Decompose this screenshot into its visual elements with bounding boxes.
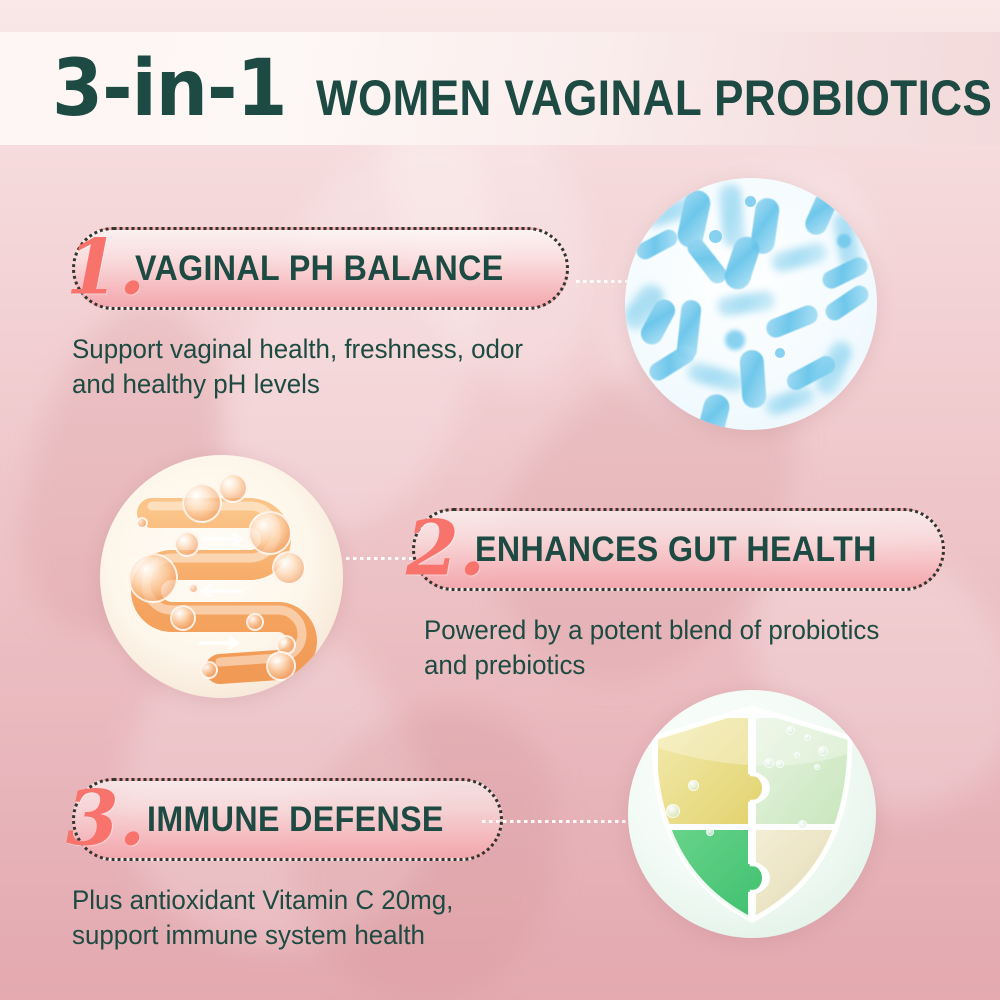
feature-1-body: Support vaginal health, freshness, odor … — [72, 332, 549, 401]
gut-bubble — [200, 661, 218, 679]
gut-bubble — [248, 511, 292, 555]
connector-line-3 — [482, 820, 632, 823]
header-band: 3-in-1 WOMEN VAGINAL PROBIOTICS — [0, 32, 1000, 145]
gut-bubble — [136, 517, 148, 529]
feature-2-title: ENHANCES GUT HEALTH — [475, 530, 877, 570]
infographic-canvas: 3-in-1 WOMEN VAGINAL PROBIOTICS VAGINAL … — [0, 0, 1000, 1000]
feature-1-pill-wrap: VAGINAL PH BALANCE 1. — [72, 227, 569, 310]
immune-shield-image — [628, 690, 876, 938]
feature-3-title: IMMUNE DEFENSE — [147, 800, 444, 840]
title-rest: WOMEN VAGINAL PROBIOTICS — [316, 73, 992, 123]
gut-bubble — [246, 613, 264, 631]
gut-bubble — [218, 473, 248, 503]
feature-1-title: VAGINAL PH BALANCE — [135, 249, 504, 289]
feature-3-pill-wrap: IMMUNE DEFENSE 3. — [72, 778, 503, 861]
feature-1-pill: VAGINAL PH BALANCE — [72, 227, 569, 310]
feature-2-pill-wrap: ENHANCES GUT HEALTH 2. — [412, 508, 945, 591]
feature-3-pill: IMMUNE DEFENSE — [72, 778, 503, 861]
gut-bubble — [128, 553, 178, 603]
connector-line-2 — [346, 557, 414, 560]
feature-2-body: Powered by a potent blend of probiotics … — [424, 613, 924, 682]
feature-block-2: ENHANCES GUT HEALTH 2. Powered by a pote… — [412, 508, 945, 682]
feature-block-1: VAGINAL PH BALANCE 1. Support vaginal he… — [72, 227, 569, 401]
gut-bubble — [174, 531, 200, 557]
gut-bubble — [188, 583, 199, 594]
gut-bubble — [182, 483, 222, 523]
feature-block-3: IMMUNE DEFENSE 3. Plus antioxidant Vitam… — [72, 778, 503, 952]
feature-3-body: Plus antioxidant Vitamin C 20mg, support… — [72, 883, 485, 952]
gut-bubble — [170, 605, 196, 631]
probiotic-bacteria-image — [625, 178, 877, 430]
gut-bubble — [266, 651, 296, 681]
page-title: 3-in-1 WOMEN VAGINAL PROBIOTICS — [52, 50, 1000, 128]
gut-bubble — [272, 551, 306, 585]
feature-2-pill: ENHANCES GUT HEALTH — [412, 508, 945, 591]
title-strong: 3-in-1 — [52, 50, 287, 128]
gut-intestine-image — [100, 455, 343, 698]
